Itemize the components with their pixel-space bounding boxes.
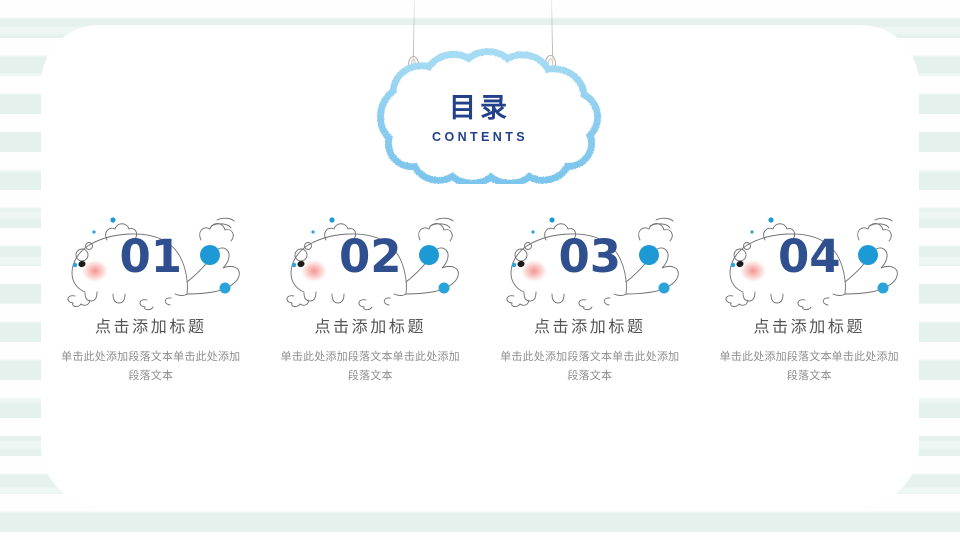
slide-canvas: 目录 CONTENTS xyxy=(0,0,960,540)
contents-item-04[interactable]: 04 点击添加标题 单击此处添加段落文本单击此处添加段落文本 xyxy=(700,208,920,387)
item-number: 04 xyxy=(759,234,859,279)
item-number: 02 xyxy=(320,234,420,279)
item-description: 单击此处添加段落文本单击此处添加段落文本 xyxy=(495,348,685,387)
badge-subtitle: CONTENTS xyxy=(432,131,528,144)
item-title: 点击添加标题 xyxy=(534,318,646,337)
item-description: 单击此处添加段落文本单击此处添加段落文本 xyxy=(275,348,465,387)
whale-illustration: 04 xyxy=(709,208,909,312)
contents-list: 01 点击添加标题 单击此处添加段落文本单击此处添加段落文本 xyxy=(41,208,919,387)
item-description: 单击此处添加段落文本单击此处添加段落文本 xyxy=(56,348,246,387)
item-title: 点击添加标题 xyxy=(314,318,426,337)
whale-illustration: 03 xyxy=(490,208,690,312)
badge-title: 目录 xyxy=(449,95,511,122)
contents-item-01[interactable]: 01 点击添加标题 单击此处添加段落文本单击此处添加段落文本 xyxy=(41,208,261,387)
item-number: 01 xyxy=(101,234,201,279)
whale-illustration: 01 xyxy=(51,208,251,312)
contents-item-03[interactable]: 03 点击添加标题 单击此处添加段落文本单击此处添加段落文本 xyxy=(480,208,700,387)
item-description: 单击此处添加段落文本单击此处添加段落文本 xyxy=(714,348,904,387)
whale-illustration: 02 xyxy=(270,208,470,312)
item-title: 点击添加标题 xyxy=(95,318,207,337)
contents-item-02[interactable]: 02 点击添加标题 单击此处添加段落文本单击此处添加段落文本 xyxy=(261,208,481,387)
contents-badge: 目录 CONTENTS xyxy=(352,48,608,184)
item-number: 03 xyxy=(540,234,640,279)
item-title: 点击添加标题 xyxy=(753,318,865,337)
